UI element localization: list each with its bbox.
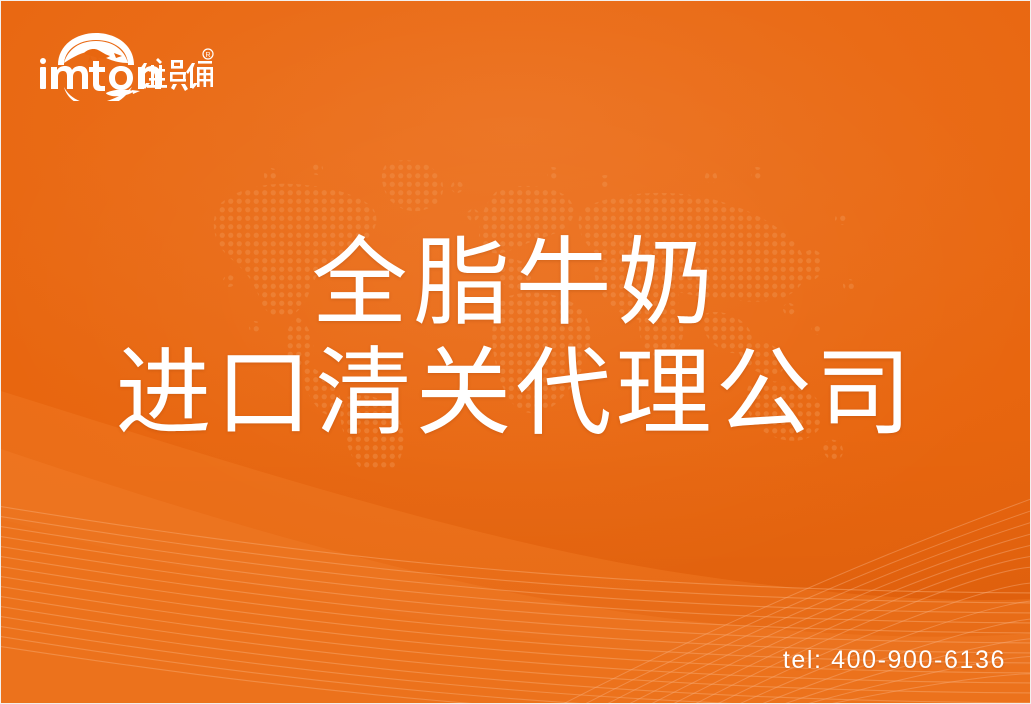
svg-text:R: R <box>205 52 210 59</box>
imton-logo[interactable]: R <box>34 29 214 101</box>
promo-banner: R 全脂牛奶 进口清关代理公司 tel: 400-900-6136 <box>0 0 1031 704</box>
contact-phone[interactable]: tel: 400-900-6136 <box>783 646 1006 675</box>
